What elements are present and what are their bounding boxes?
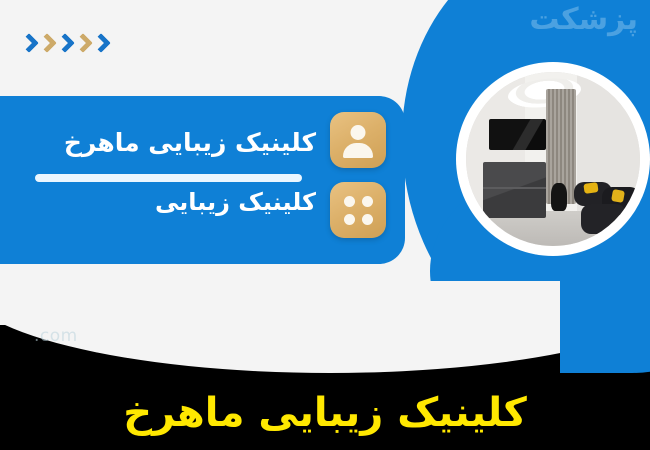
chevron-right-icon [22, 34, 33, 58]
floor-vase [551, 183, 567, 211]
person-icon[interactable] [330, 112, 386, 168]
feature-icon-column [330, 112, 386, 238]
wall-tv [489, 119, 546, 150]
grid-dots-icon-dots [330, 182, 386, 238]
poster-canvas: کلینیک زیبایی ماهرخ کلینیک زیبایی .com ک… [0, 0, 650, 450]
person-icon-body [343, 143, 373, 158]
footer-band-curve-blue [560, 281, 650, 373]
photo-ring [456, 62, 650, 256]
grid-dot [362, 214, 373, 225]
sofa-front [581, 204, 626, 234]
grid-dot [344, 214, 355, 225]
banner-subtitle: کلینیک زیبایی [0, 188, 330, 216]
grid-dots-icon[interactable] [330, 182, 386, 238]
footer-title: کلینیک زیبایی ماهرخ [0, 390, 650, 436]
chevron-right-icon [58, 34, 69, 58]
chevron-right-icon [40, 34, 51, 58]
banner-divider [35, 174, 302, 182]
chevron-group-top [22, 34, 105, 58]
footer-band-curve [0, 281, 650, 373]
reception-desk [483, 162, 546, 218]
room-illustration [466, 72, 640, 246]
grid-dot [362, 196, 373, 207]
banner-title: کلینیک زیبایی ماهرخ [0, 128, 330, 157]
chevron-right-icon [94, 34, 105, 58]
person-icon-head [351, 125, 366, 140]
grid-dot [344, 196, 355, 207]
chevron-right-icon [76, 34, 87, 58]
clinic-waiting-room-photo [466, 72, 640, 246]
